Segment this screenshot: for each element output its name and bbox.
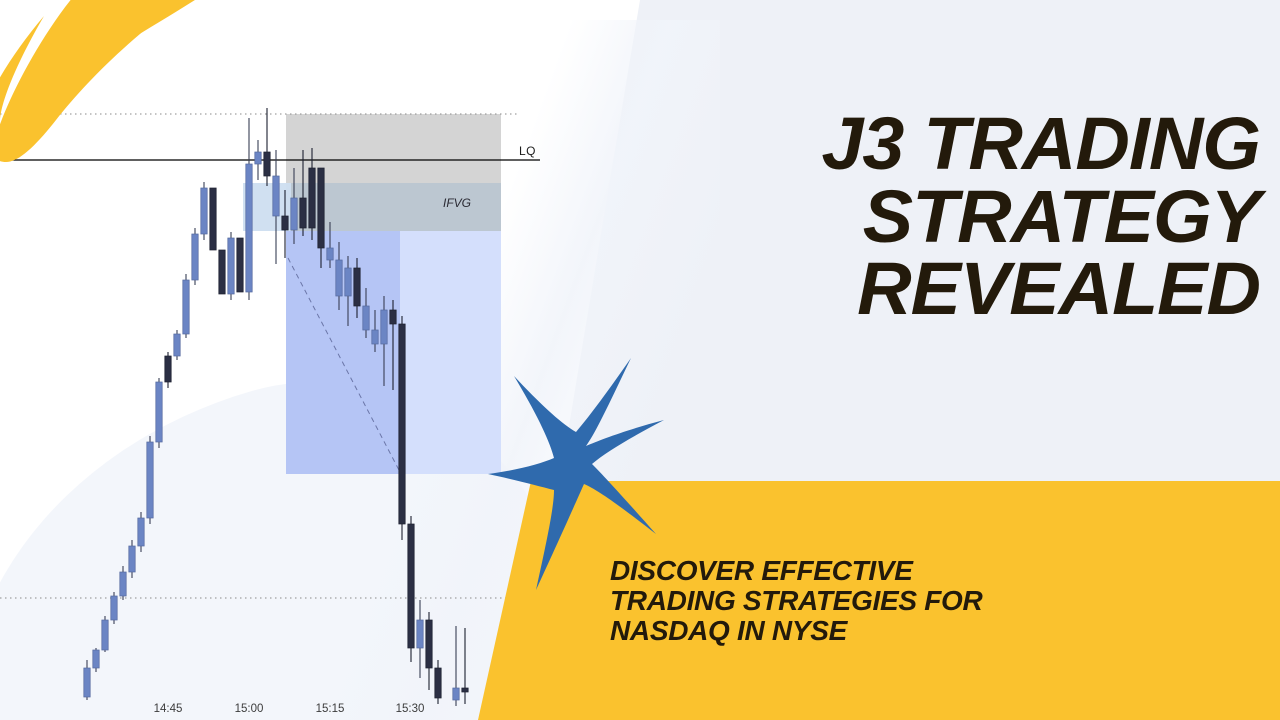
candle <box>138 512 144 552</box>
title-line-1: J3 TRADING <box>689 108 1260 181</box>
subtitle-line-2: TRADING STRATEGIES FOR <box>610 586 1170 616</box>
candle <box>453 626 459 706</box>
candle <box>462 628 468 704</box>
target-zone-light <box>400 231 501 474</box>
time-axis: 14:4515:0015:1515:30 <box>0 703 520 720</box>
liquidity-line-label: LQ <box>519 144 536 158</box>
thumbnail-canvas: LQ IFVG 14:4515:0015:1515:30 J3 TRADING … <box>0 0 1280 720</box>
candle <box>426 612 432 690</box>
candle <box>192 228 198 285</box>
candle <box>165 352 171 388</box>
candle <box>183 274 189 338</box>
title-line-3: REVEALED <box>689 253 1260 326</box>
title-line-2: STRATEGY <box>689 181 1260 254</box>
candle <box>84 660 90 700</box>
candle <box>417 600 423 678</box>
candle <box>408 516 414 662</box>
candle <box>156 378 162 448</box>
candle <box>228 232 234 300</box>
candle <box>237 238 243 292</box>
candle <box>435 660 441 704</box>
yellow-swoosh-shape <box>0 0 290 164</box>
candle <box>147 436 153 524</box>
time-axis-tick: 15:15 <box>316 703 345 715</box>
candle <box>93 648 99 672</box>
ifvg-zone-label: IFVG <box>443 196 471 210</box>
time-axis-tick: 15:30 <box>396 703 425 715</box>
subtitle-line-1: DISCOVER EFFECTIVE <box>610 556 1170 586</box>
candle <box>129 540 135 578</box>
page-title: J3 TRADING STRATEGY REVEALED <box>689 108 1260 326</box>
candle <box>102 616 108 652</box>
candle <box>210 188 216 250</box>
page-subtitle: DISCOVER EFFECTIVE TRADING STRATEGIES FO… <box>610 556 1170 646</box>
candle <box>273 150 279 264</box>
time-axis-tick: 14:45 <box>154 703 183 715</box>
target-zone-dark <box>286 231 400 474</box>
candle <box>201 182 207 240</box>
candle <box>219 250 225 294</box>
candle <box>111 592 117 624</box>
time-axis-tick: 15:00 <box>235 703 264 715</box>
candle <box>120 566 126 600</box>
candle <box>399 316 405 540</box>
candle <box>174 330 180 360</box>
subtitle-line-3: NASDAQ IN NYSE <box>610 616 1170 646</box>
